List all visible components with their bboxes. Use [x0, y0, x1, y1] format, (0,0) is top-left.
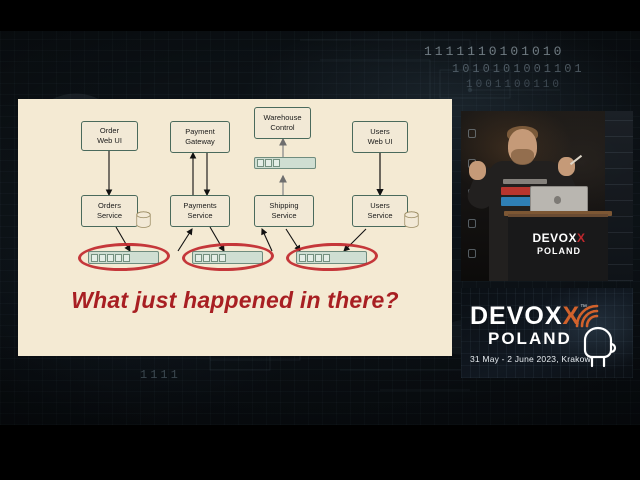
node-users-service[interactable]: Users Service: [352, 195, 408, 227]
queue-message: [91, 254, 98, 262]
lectern-brand-devoxx: DEVOXX: [523, 231, 595, 245]
presentation-slide: Order Web UI Payment Gateway Warehouse C…: [18, 99, 452, 356]
tshirt-text-top: [503, 179, 547, 184]
node-label-line2: Web UI: [97, 136, 122, 146]
node-label-line2: Control: [263, 123, 301, 133]
node-shipping-service[interactable]: Shipping Service: [254, 195, 314, 227]
node-users-web-ui[interactable]: Users Web UI: [352, 121, 408, 153]
node-orders-service[interactable]: Orders Service: [81, 195, 138, 227]
queue-message: [115, 254, 122, 262]
node-label-line1: Order: [97, 126, 122, 136]
lectern-brand-poland: POLAND: [523, 246, 595, 256]
queue-warehouse[interactable]: [254, 157, 316, 169]
speaker-left-hand: [469, 161, 486, 180]
node-warehouse-control[interactable]: Warehouse Control: [254, 107, 311, 139]
queue-message: [307, 254, 314, 262]
lectern-brand-accent: X: [577, 231, 586, 245]
node-label-line1: Users: [368, 127, 393, 137]
queue-message: [211, 254, 218, 262]
panel-hole: [468, 249, 476, 258]
node-payment-gateway[interactable]: Payment Gateway: [170, 121, 230, 153]
node-label-line1: Users: [367, 201, 392, 211]
backdrop-binary-text: 1010101001101: [452, 62, 585, 76]
queue-message: [107, 254, 114, 262]
queue-message: [203, 254, 210, 262]
node-label-line2: Web UI: [368, 137, 393, 147]
node-payments-service[interactable]: Payments Service: [170, 195, 230, 227]
queue-payments[interactable]: [192, 251, 263, 264]
queue-message: [195, 254, 202, 262]
node-label-line2: Service: [97, 211, 122, 221]
panel-hole: [468, 219, 476, 228]
brand-title-text: DEVOX: [470, 302, 563, 330]
letterbox-bottom: [0, 425, 640, 480]
node-label-line1: Shipping: [269, 201, 298, 211]
node-label-line1: Payments: [183, 201, 216, 211]
queue-orders[interactable]: [88, 251, 159, 264]
queue-message: [99, 254, 106, 262]
backdrop-binary-text: 1111: [140, 368, 181, 382]
queue-shipping[interactable]: [296, 251, 367, 264]
node-label-line2: Service: [269, 211, 298, 221]
lectern-brand-text: DEVOX: [532, 231, 577, 245]
video-player-frame: EUROPE AMERICA ASIA AFRICA 1111110101010…: [0, 0, 640, 480]
database-orders-icon: [136, 211, 151, 229]
speaker-beard: [511, 149, 534, 165]
queue-message: [315, 254, 322, 262]
queue-message: [123, 254, 130, 262]
node-label-line1: Warehouse: [263, 113, 301, 123]
node-label-line1: Orders: [97, 201, 122, 211]
speaker-camera-view: DEVOXX POLAND I CAN DO THIS ALL DAY: [461, 111, 633, 281]
node-label-line2: Service: [183, 211, 216, 221]
stage-right-panel: [605, 111, 633, 281]
brand-country: POLAND: [488, 330, 572, 347]
queue-message: [323, 254, 330, 262]
node-label-line2: Service: [367, 211, 392, 221]
node-order-web-ui[interactable]: Order Web UI: [81, 121, 138, 151]
queue-message: [257, 159, 264, 167]
laptop-logo-icon: [554, 196, 561, 204]
slide-title: What just happened in there?: [18, 287, 452, 314]
devoxx-head-signal-icon: [571, 296, 627, 370]
database-users-icon: [404, 211, 419, 229]
backdrop-binary-text: 1001100110: [466, 79, 562, 91]
queue-message: [299, 254, 306, 262]
brand-title-devoxx: DEVOXX: [470, 304, 580, 329]
letterbox-top: [0, 0, 640, 31]
node-label-line1: Payment: [185, 127, 215, 137]
queue-message: [265, 159, 272, 167]
panel-hole: [468, 129, 476, 138]
queue-message: [219, 254, 226, 262]
node-label-line2: Gateway: [185, 137, 215, 147]
devoxx-poland-brand-card: DEVOXX ™ POLAND 31 May - 2 June 2023, Kr…: [461, 288, 633, 378]
queue-message: [273, 159, 280, 167]
backdrop-binary-text: 1111110101010: [424, 44, 564, 59]
